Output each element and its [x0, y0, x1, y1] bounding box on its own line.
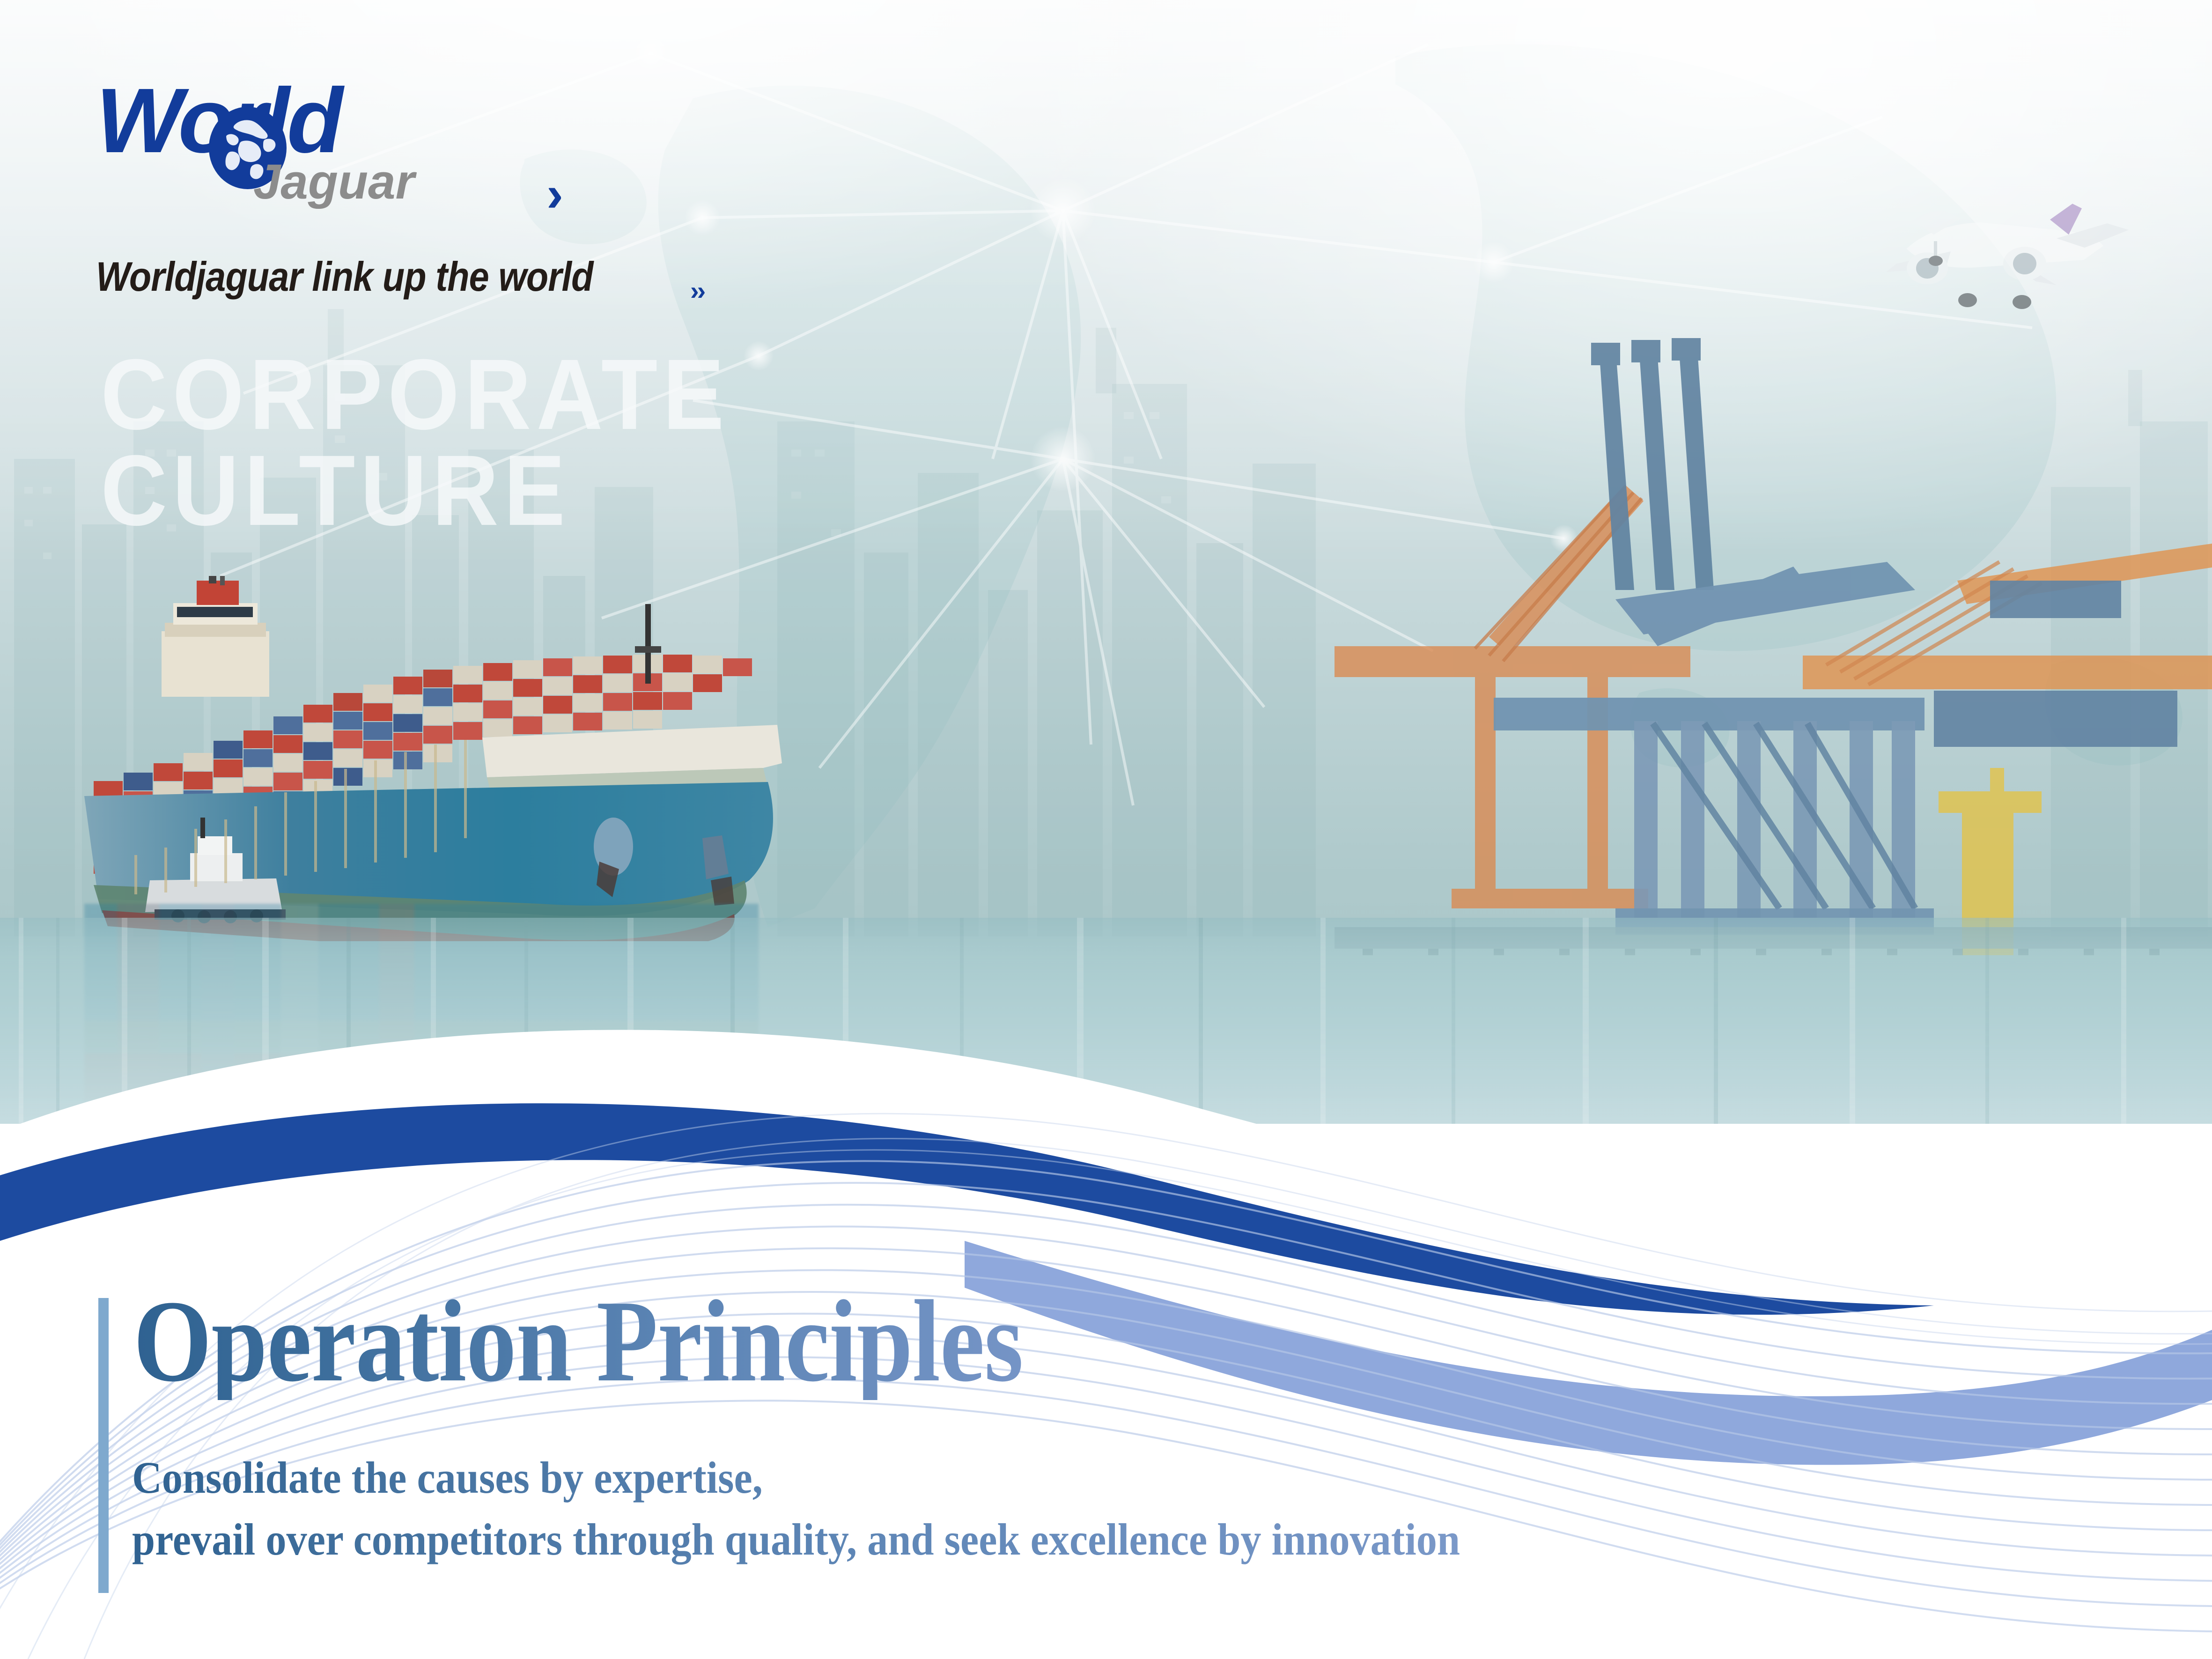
- container-ship: [80, 576, 829, 941]
- company-logo[interactable]: World Jaguar ›: [96, 75, 564, 229]
- port-cranes: [1335, 300, 2212, 955]
- page-subtitle: Consolidate the causes by expertise,prev…: [132, 1447, 1460, 1571]
- page-title: Operation Principles: [133, 1283, 1023, 1400]
- double-chevron-icon: ››: [690, 275, 704, 306]
- logo-wordmark-secondary: Jaguar: [253, 157, 414, 206]
- subtitle-line-1: Consolidate the causes by expertise,: [132, 1453, 763, 1503]
- accent-bar: [98, 1298, 109, 1593]
- chevron-right-icon: ›: [546, 169, 563, 219]
- subtitle-line-2: prevail over competitors through quality…: [132, 1514, 1460, 1564]
- brand-tagline: Worldjaguar link up the world: [96, 253, 593, 301]
- section-heading: CORPORATE CULTURE: [101, 347, 730, 539]
- airplane-icon: [1864, 190, 2154, 325]
- slide-canvas: CORPORATE CULTURE World Jaguar › Worldja…: [0, 0, 2212, 1659]
